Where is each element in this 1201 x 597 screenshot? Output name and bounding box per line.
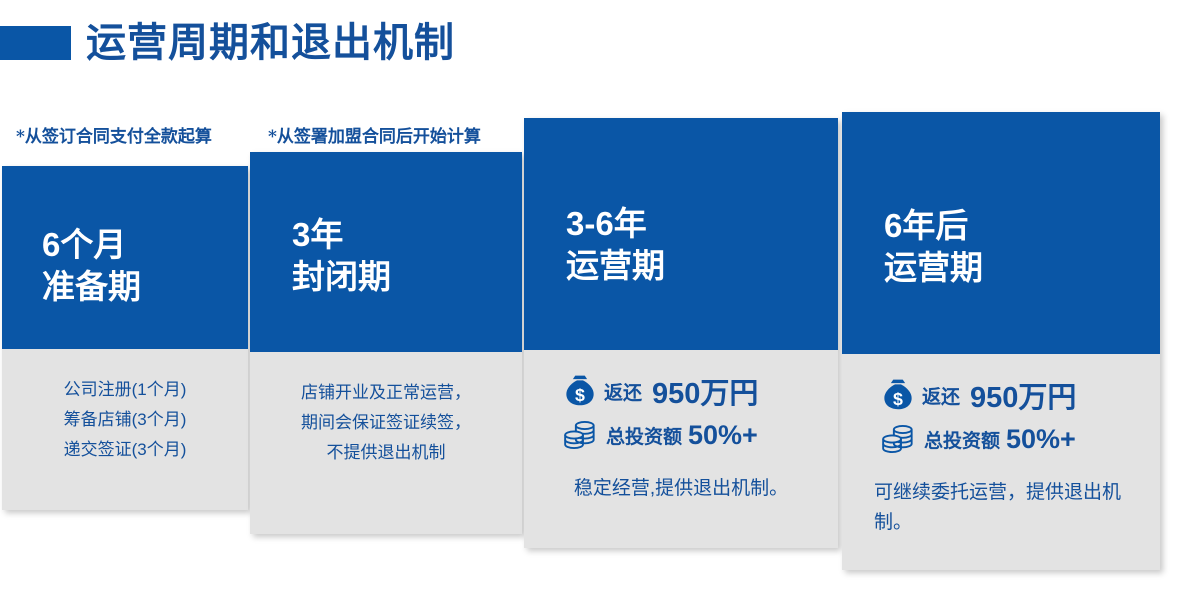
money-bag-icon: $ [558,370,602,412]
card-header: 3-6年 运营期 [524,118,838,350]
stat-value: 50%+ [1006,424,1076,455]
stat-label: 总投资额 [606,422,682,449]
note-franchise-contract: *从签署加盟合同后开始计算 [268,127,481,147]
card-title: 6年后 运营期 [884,205,983,289]
stat-label: 返还 [922,382,960,409]
card-title: 6个月 准备期 [42,224,141,308]
stat-label: 返还 [604,378,642,405]
stat-label: 总投资额 [924,426,1000,453]
card-title: 3年 封闭期 [292,214,391,298]
card-header: 6年后 运营期 [842,112,1160,354]
card-body: 店铺开业及正常运营， 期间会保证签证续签， 不提供退出机制 [250,352,522,468]
list-item: 筹备店铺(3个月) [2,405,248,435]
phase-card-operation-3-6[interactable]: 3-6年 运营期 $ 返还 950万円 [524,118,838,548]
stat-value: 50%+ [688,420,758,451]
list-item: 公司注册(1个月) [2,375,248,405]
card-body: 公司注册(1个月) 筹备店铺(3个月) 递交签证(3个月) [2,349,248,465]
stat-row-investment: 总投资额 50%+ [558,414,838,456]
card-footer-text: 可继续委托运营，提供退出机制。 [874,478,1138,538]
stat-value: 950万円 [970,374,1076,416]
note-contract-payment: *从签订合同支付全款起算 [16,127,212,147]
stat-row-investment: 总投资额 50%+ [876,418,1160,460]
svg-text:$: $ [575,385,585,405]
list-item: 店铺开业及正常运营， [250,378,522,408]
phase-card-lockup[interactable]: 3年 封闭期 店铺开业及正常运营， 期间会保证签证续签， 不提供退出机制 [250,152,522,534]
card-header: 6个月 准备期 [2,166,248,349]
title-accent-bar [0,26,71,60]
coin-stack-icon [876,418,920,460]
card-body: $ 返还 950万円 总投资额 50%+ 稳定经营,提供退出 [524,350,838,504]
stat-row-return: $ 返还 950万円 [876,374,1160,416]
list-item: 期间会保证签证续签， [250,408,522,438]
stat-row-return: $ 返还 950万円 [558,370,838,412]
card-footer-text: 稳定经营,提供退出机制。 [524,474,838,504]
phase-card-preparation[interactable]: 6个月 准备期 公司注册(1个月) 筹备店铺(3个月) 递交签证(3个月) [2,166,248,510]
card-header: 3年 封闭期 [250,152,522,352]
page-title: 运营周期和退出机制 [86,16,455,70]
money-bag-icon: $ [876,374,920,416]
card-title: 3-6年 运营期 [566,203,665,287]
list-item: 递交签证(3个月) [2,435,248,465]
list-item: 不提供退出机制 [250,438,522,468]
coin-stack-icon [558,414,602,456]
svg-text:$: $ [893,389,903,409]
phase-card-operation-after-6[interactable]: 6年后 运营期 $ 返还 950万円 [842,112,1160,570]
stat-value: 950万円 [652,370,758,412]
card-body: $ 返还 950万円 总投资额 50%+ 可继续委托运营，提 [842,354,1160,538]
